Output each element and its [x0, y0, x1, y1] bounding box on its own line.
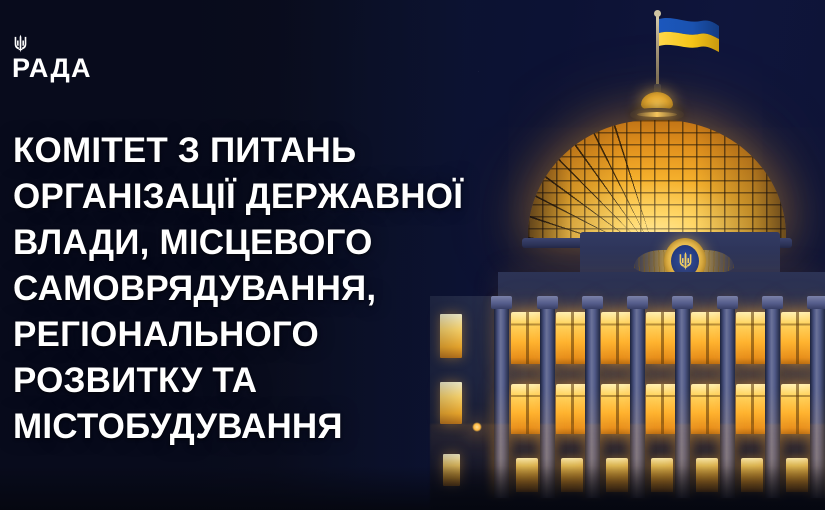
- title-line: ВЛАДИ, МІСЦЕВОГО: [13, 220, 633, 266]
- rada-committee-banner: РАДА КОМІТЕТ З ПИТАНЬ ОРГАНІЗАЦІЇ ДЕРЖАВ…: [0, 0, 825, 510]
- title-line: ОРГАНІЗАЦІЇ ДЕРЖАВНОЇ: [13, 174, 633, 220]
- page-title: КОМІТЕТ З ПИТАНЬ ОРГАНІЗАЦІЇ ДЕРЖАВНОЇ В…: [13, 128, 633, 450]
- title-line: САМОВРЯДУВАННЯ,: [13, 266, 633, 312]
- ukrainian-trident-icon: [12, 34, 29, 53]
- bottom-fade-overlay: [0, 466, 825, 510]
- title-line: МІСТОБУДУВАННЯ: [13, 404, 633, 450]
- ukraine-flag-icon: [659, 17, 721, 63]
- rada-wordmark: РАДА: [12, 55, 172, 82]
- rada-logo[interactable]: РАДА: [12, 34, 172, 82]
- title-line: РОЗВИТКУ ТА: [13, 358, 633, 404]
- ukrainian-trident-icon: [678, 251, 693, 271]
- title-line: КОМІТЕТ З ПИТАНЬ: [13, 128, 633, 174]
- title-line: РЕГІОНАЛЬНОГО: [13, 312, 633, 358]
- flagpole-tip-icon: [654, 10, 661, 17]
